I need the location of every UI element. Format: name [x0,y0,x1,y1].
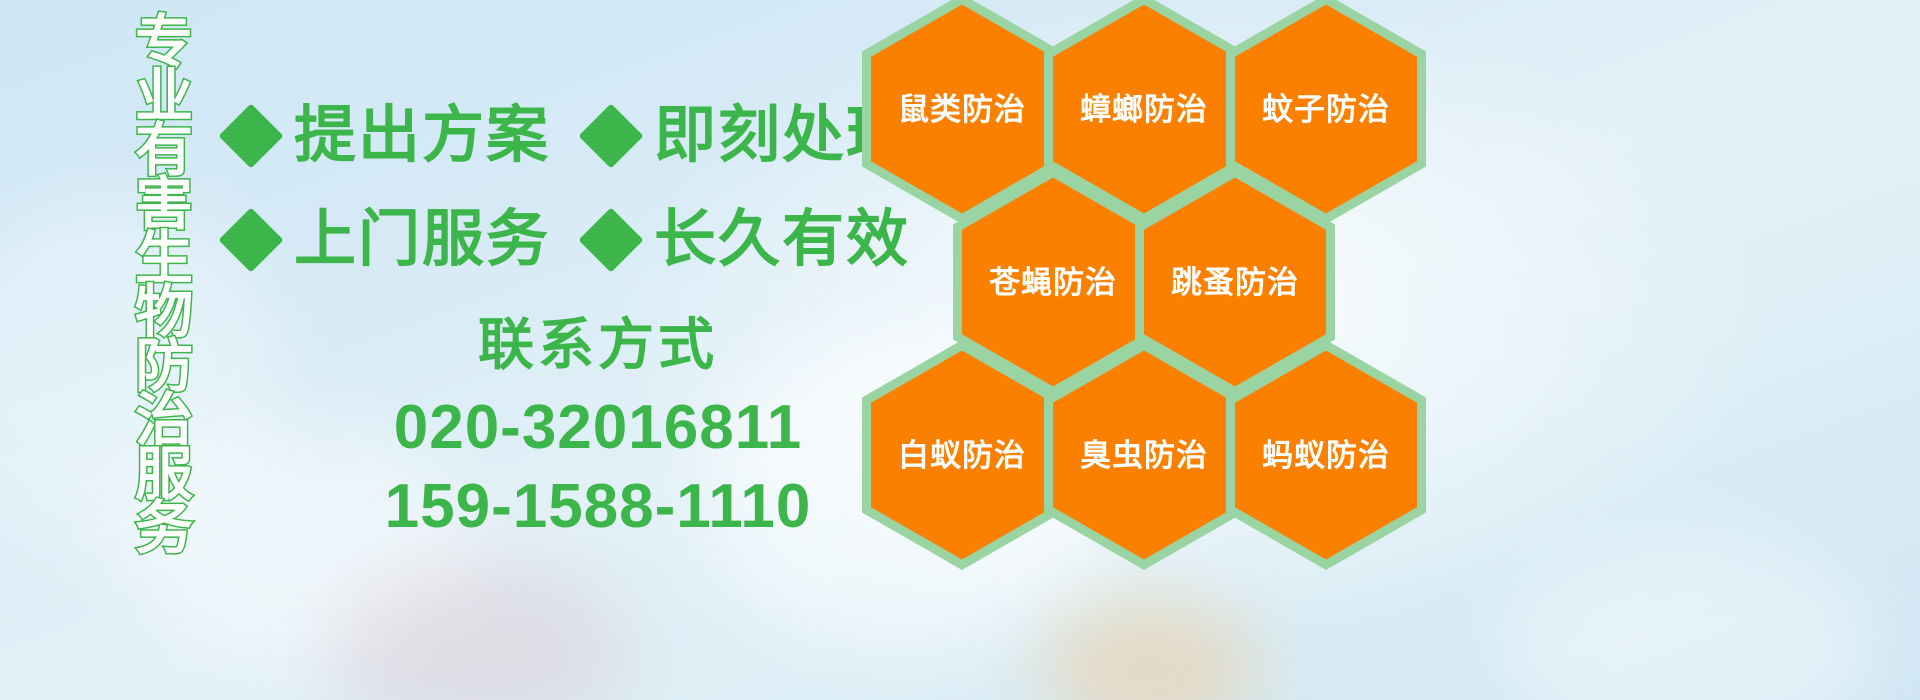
background-blur-shape [1500,540,1880,700]
phone-number-landline[interactable]: 020-32016811 [318,388,878,467]
diamond-bullet-icon [578,103,643,168]
vertical-headline-char: 害 [135,178,193,232]
service-label: 跳蚤防治 [1171,267,1299,298]
hexagon-fill: 蚊子防治 [1235,5,1417,214]
hexagon-fill: 蟑螂防治 [1053,5,1235,214]
feature-label: 提出方案 [294,105,550,167]
service-label: 蚂蚁防治 [1262,440,1390,471]
background-blur-shape [1040,600,1260,700]
service-honeycomb: 鼠类防治 蟑螂防治 蚊子防治 苍蝇防治 跳蚤防治 白蚁防治 [856,0,1476,544]
diamond-bullet-icon [218,207,283,272]
vertical-headline: 专 业 有 害 生 物 防 治 服 务 [108,16,220,556]
service-label: 蚊子防治 [1262,94,1390,125]
diamond-bullet-icon [218,103,283,168]
feature-item: 提出方案 [228,105,550,167]
vertical-headline-char: 务 [135,502,193,556]
feature-item: 上门服务 [228,209,550,271]
hexagon-fill: 跳蚤防治 [1144,178,1326,387]
vertical-headline-char: 物 [135,286,193,340]
phone-number-mobile[interactable]: 159-1588-1110 [318,467,878,546]
vertical-headline-char: 防 [135,340,193,394]
hexagon-fill: 白蚁防治 [871,351,1053,560]
feature-row: 提出方案 即刻处理 [228,84,868,188]
vertical-headline-char: 专 [135,16,193,70]
vertical-headline-char: 业 [135,70,193,124]
service-label: 苍蝇防治 [989,267,1117,298]
vertical-headline-char: 生 [135,232,193,286]
hexagon-fill: 苍蝇防治 [962,178,1144,387]
service-label: 白蚁防治 [898,440,1026,471]
feature-list: 提出方案 即刻处理 上门服务 长久有效 [228,84,868,292]
hexagon-fill: 臭虫防治 [1053,351,1235,560]
diamond-bullet-icon [578,207,643,272]
service-label: 鼠类防治 [898,94,1026,125]
service-label: 蟑螂防治 [1080,94,1208,125]
contact-block: 联系方式 020-32016811 159-1588-1110 [318,314,878,546]
contact-title: 联系方式 [318,314,878,376]
vertical-headline-char: 有 [135,124,193,178]
vertical-headline-char: 服 [135,448,193,502]
service-label: 臭虫防治 [1080,440,1208,471]
vertical-headline-char: 治 [135,394,193,448]
feature-label: 上门服务 [294,209,550,271]
feature-row: 上门服务 长久有效 [228,188,868,292]
background-blur-shape [330,560,630,700]
hexagon-fill: 蚂蚁防治 [1235,351,1417,560]
promo-banner: 专 业 有 害 生 物 防 治 服 务 提出方案 即刻处理 上门服务 [0,0,1920,700]
hexagon-fill: 鼠类防治 [871,5,1053,214]
